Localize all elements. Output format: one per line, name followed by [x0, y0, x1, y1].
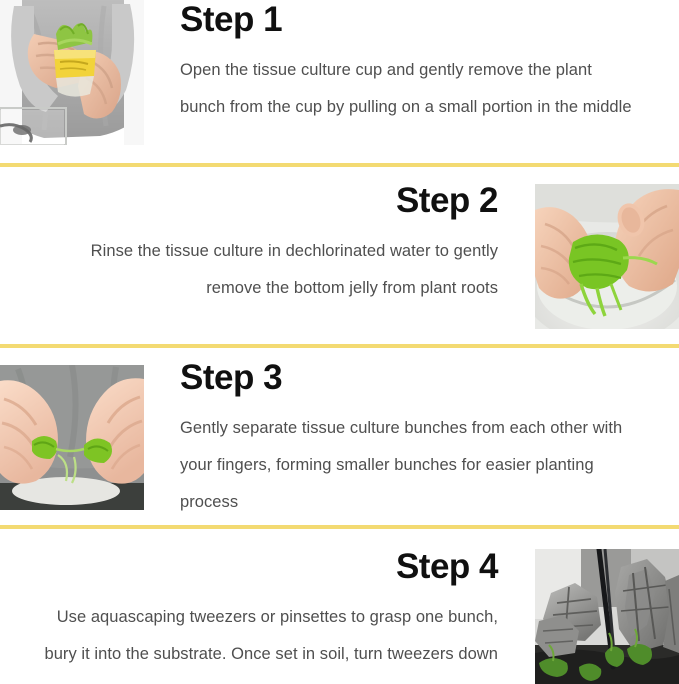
step-2-body: Rinse the tissue culture in dechlorinate…	[40, 233, 498, 307]
hands-rinsing-plant-in-bowl-photo	[535, 184, 679, 329]
step-block-3: Step 3 Gently separate tissue culture bu…	[0, 348, 679, 525]
aquascape-rocks-with-tweezers-photo	[535, 549, 679, 684]
step-block-2: Step 2 Rinse the tissue culture in dechl…	[0, 167, 679, 344]
step-4-body: Use aquascaping tweezers or pinsettes to…	[40, 599, 498, 684]
step-2-heading: Step 2	[40, 181, 498, 221]
step-1-photo	[0, 0, 144, 145]
step-3-text: Step 3 Gently separate tissue culture bu…	[144, 348, 679, 521]
planting-steps-infographic: Step 1 Open the tissue culture cup and g…	[0, 0, 679, 684]
step-3-photo	[0, 365, 144, 510]
step-1-heading: Step 1	[180, 0, 639, 40]
step-3-body: Gently separate tissue culture bunches f…	[180, 410, 639, 521]
step-4-photo	[535, 549, 679, 684]
hands-separating-plant-bunches-photo	[0, 365, 144, 510]
step-4-heading: Step 4	[40, 547, 498, 587]
step-block-1: Step 1 Open the tissue culture cup and g…	[0, 0, 679, 163]
step-4-text: Step 4 Use aquascaping tweezers or pinse…	[0, 529, 535, 684]
person-holding-tissue-culture-cup-photo	[0, 0, 144, 145]
step-2-text: Step 2 Rinse the tissue culture in dechl…	[0, 167, 535, 307]
step-block-4: Step 4 Use aquascaping tweezers or pinse…	[0, 529, 679, 684]
step-3-heading: Step 3	[180, 358, 639, 398]
step-2-photo	[535, 184, 679, 329]
step-1-body: Open the tissue culture cup and gently r…	[180, 52, 639, 126]
step-1-text: Step 1 Open the tissue culture cup and g…	[144, 0, 679, 126]
